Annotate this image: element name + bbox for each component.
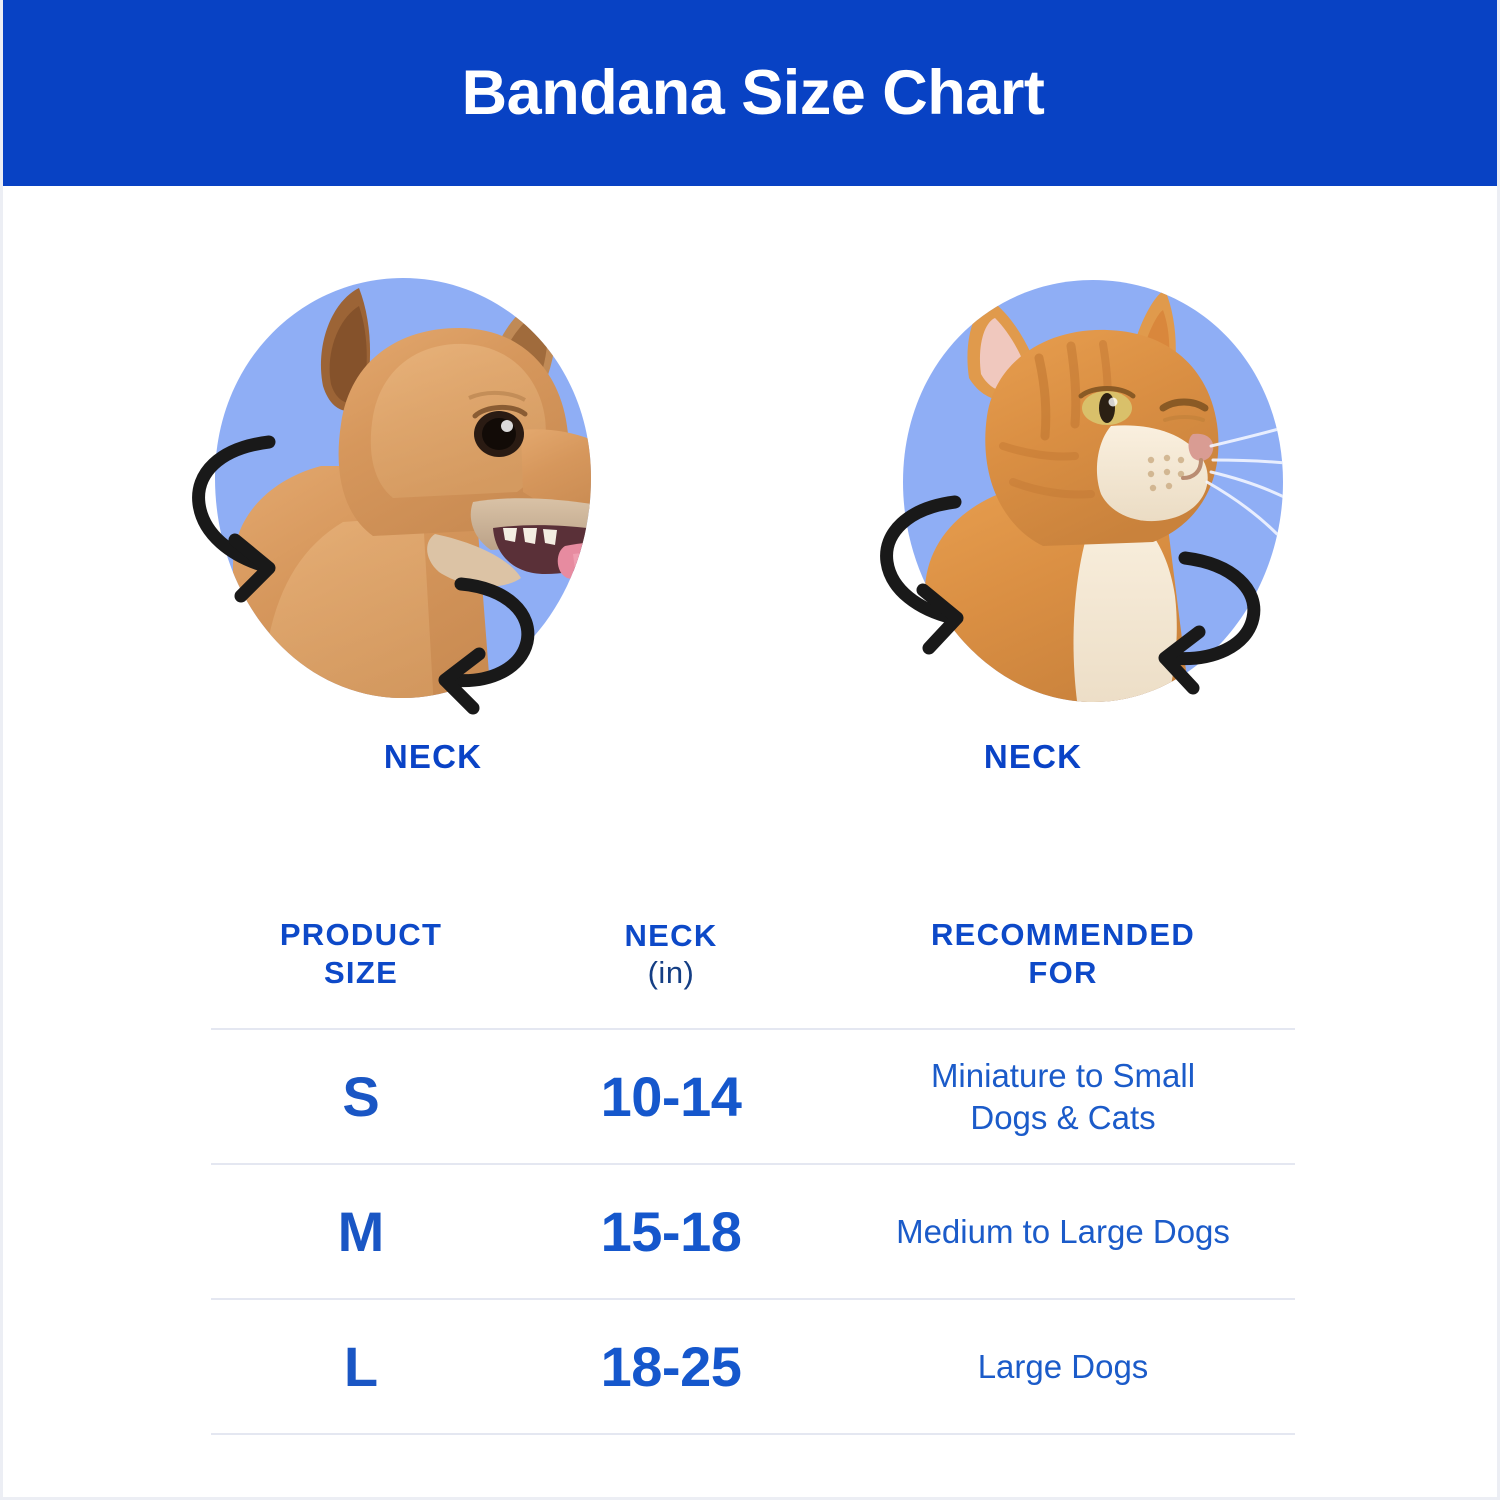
dog-figure [173, 266, 633, 726]
recommended-text-line2: Dogs & Cats [970, 1099, 1155, 1136]
cell-neck-range: 10-14 [511, 1069, 831, 1125]
cat-illustration-block: NECK [823, 186, 1343, 796]
product-size-line2: SIZE [324, 955, 398, 990]
cat-neck-label: NECK [773, 738, 1293, 776]
cell-product-size: S [211, 1069, 511, 1125]
neck-header-line1: NECK [624, 918, 717, 953]
cell-neck-range: 18-25 [511, 1339, 831, 1395]
dog-head-icon [173, 266, 633, 726]
table-row: M 15-18 Medium to Large Dogs [211, 1163, 1295, 1298]
cell-recommended-for: Medium to Large Dogs [831, 1211, 1295, 1252]
recommended-line1: RECOMMENDED [931, 917, 1195, 952]
recommended-text-line1: Large Dogs [978, 1348, 1149, 1385]
dog-illustration-block: NECK [173, 186, 693, 796]
column-header-product-size: PRODUCT SIZE [211, 916, 511, 992]
cell-product-size: L [211, 1339, 511, 1395]
cell-product-size: M [211, 1204, 511, 1260]
neck-header-unit: (in) [511, 955, 831, 991]
cat-figure [863, 266, 1323, 726]
header-banner: Bandana Size Chart [3, 0, 1500, 186]
column-header-neck: NECK (in) [511, 917, 831, 991]
table-header-row: PRODUCT SIZE NECK (in) RECOMMENDED FOR [211, 880, 1295, 1028]
column-header-recommended-for: RECOMMENDED FOR [831, 916, 1295, 992]
table-row: L 18-25 Large Dogs [211, 1298, 1295, 1435]
table-row: S 10-14 Miniature to Small Dogs & Cats [211, 1028, 1295, 1163]
cell-neck-range: 15-18 [511, 1204, 831, 1260]
cat-head-icon [863, 266, 1323, 726]
page-title: Bandana Size Chart [462, 62, 1045, 125]
size-table: PRODUCT SIZE NECK (in) RECOMMENDED FOR S… [211, 880, 1295, 1435]
cell-recommended-for: Large Dogs [831, 1346, 1295, 1387]
recommended-text-line1: Miniature to Small [931, 1057, 1195, 1094]
recommended-line2: FOR [1028, 955, 1097, 990]
size-chart-page: Bandana Size Chart [0, 0, 1500, 1500]
recommended-text-line1: Medium to Large Dogs [896, 1213, 1230, 1250]
illustrations-section: NECK [3, 186, 1500, 796]
dog-neck-label: NECK [173, 738, 693, 776]
cell-recommended-for: Miniature to Small Dogs & Cats [831, 1055, 1295, 1138]
product-size-line1: PRODUCT [280, 917, 442, 952]
